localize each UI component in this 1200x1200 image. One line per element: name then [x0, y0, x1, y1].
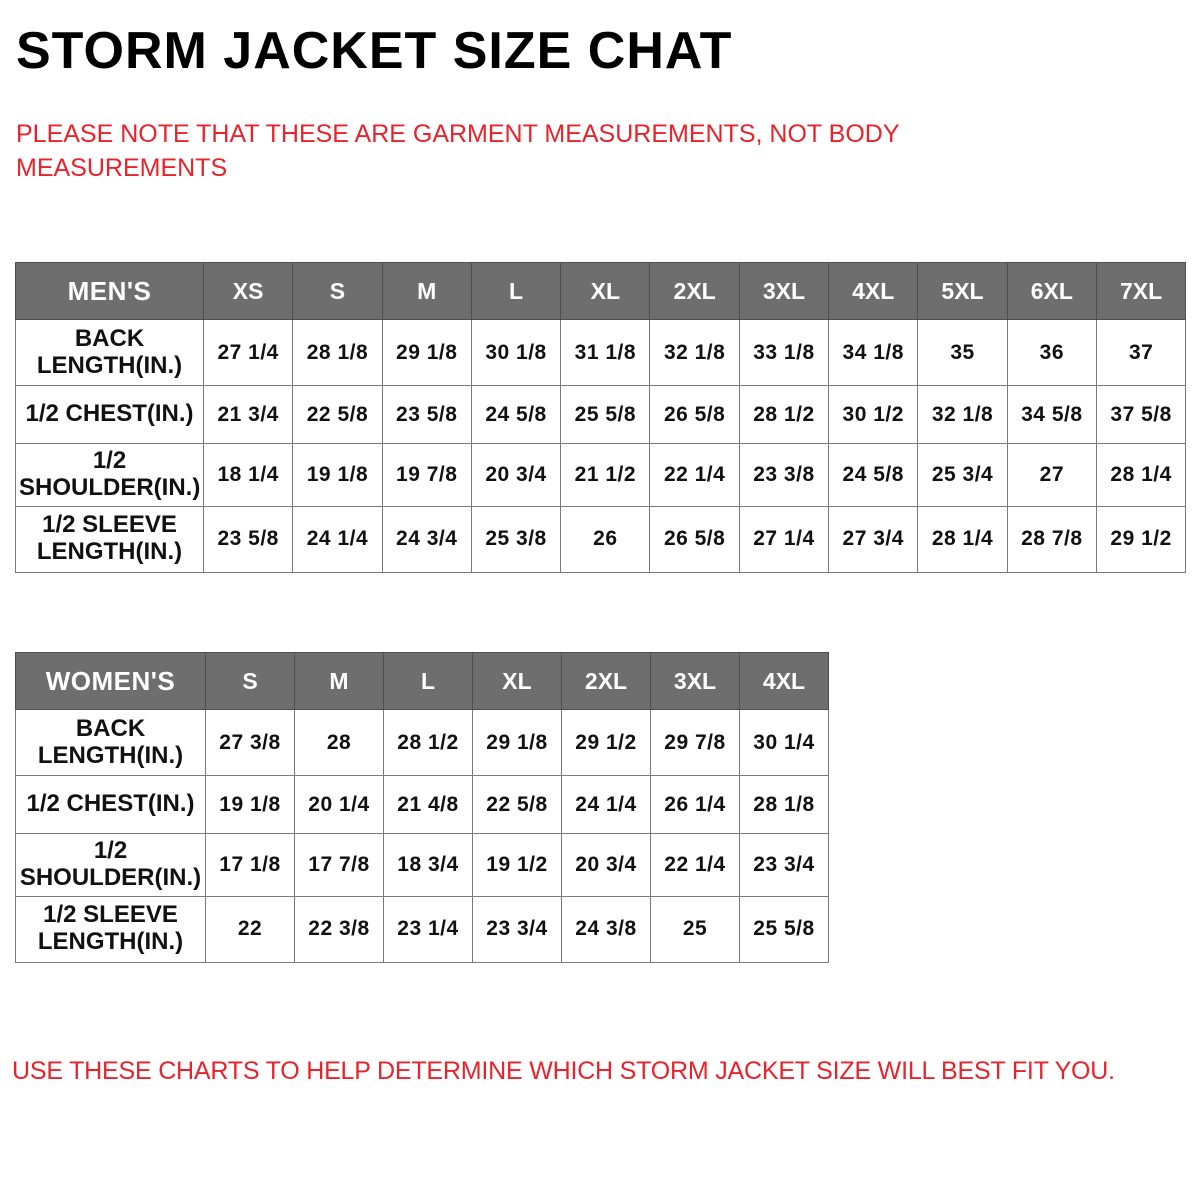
garment-measurement-note: PLEASE NOTE THAT THESE ARE GARMENT MEASU… [16, 118, 1016, 186]
measurement-cell: 22 3/8 [295, 896, 384, 962]
measurement-cell: 22 1/4 [651, 834, 740, 897]
mens-size-column-header: XL [561, 263, 650, 320]
measurement-cell: 18 1/4 [204, 444, 293, 507]
measurement-cell: 32 1/8 [918, 386, 1007, 444]
measurement-cell: 28 [295, 710, 384, 776]
measurement-cell: 17 7/8 [295, 834, 384, 897]
mens-size-column-header: L [471, 263, 560, 320]
measurement-cell: 32 1/8 [650, 320, 739, 386]
measurement-cell: 28 1/4 [918, 506, 1007, 572]
mens-table-body: BACKLENGTH(IN.)27 1/428 1/829 1/830 1/83… [16, 320, 1186, 573]
measurement-cell: 30 1/8 [471, 320, 560, 386]
measurement-cell: 22 5/8 [293, 386, 382, 444]
mens-size-column-header: 2XL [650, 263, 739, 320]
measurement-cell: 24 1/4 [562, 776, 651, 834]
measurement-row-label: 1/2 SLEEVELENGTH(IN.) [16, 506, 204, 572]
measurement-cell: 33 1/8 [739, 320, 828, 386]
measurement-cell: 27 1/4 [204, 320, 293, 386]
measurement-cell: 27 [1007, 444, 1096, 507]
mens-size-column-header: 6XL [1007, 263, 1096, 320]
measurement-cell: 22 [206, 896, 295, 962]
measurement-cell: 21 1/2 [561, 444, 650, 507]
womens-header-row: WOMEN'SSMLXL2XL3XL4XL [16, 653, 829, 710]
measurement-row-label: 1/2 SHOULDER(IN.) [16, 444, 204, 507]
measurement-cell: 22 5/8 [473, 776, 562, 834]
mens-header-row: MEN'SXSSMLXL2XL3XL4XL5XL6XL7XL [16, 263, 1186, 320]
measurement-cell: 29 1/2 [1096, 506, 1185, 572]
measurement-cell: 20 3/4 [562, 834, 651, 897]
womens-size-column-header: M [295, 653, 384, 710]
measurement-cell: 19 1/8 [293, 444, 382, 507]
measurement-cell: 18 3/4 [384, 834, 473, 897]
measurement-cell: 25 3/8 [471, 506, 560, 572]
womens-size-column-header: 2XL [562, 653, 651, 710]
measurement-cell: 23 3/8 [739, 444, 828, 507]
measurement-cell: 28 1/2 [739, 386, 828, 444]
table-row: 1/2 CHEST(IN.)21 3/422 5/823 5/824 5/825… [16, 386, 1186, 444]
measurement-cell: 37 [1096, 320, 1185, 386]
measurement-cell: 23 1/4 [384, 896, 473, 962]
mens-size-column-header: 4XL [829, 263, 918, 320]
measurement-cell: 34 1/8 [829, 320, 918, 386]
measurement-row-label: BACKLENGTH(IN.) [16, 320, 204, 386]
page-title: STORM JACKET SIZE CHAT [16, 24, 732, 79]
measurement-cell: 29 1/8 [382, 320, 471, 386]
measurement-cell: 28 1/8 [740, 776, 829, 834]
measurement-row-label: 1/2 CHEST(IN.) [16, 386, 204, 444]
mens-size-column-header: 5XL [918, 263, 1007, 320]
measurement-cell: 30 1/4 [740, 710, 829, 776]
measurement-cell: 30 1/2 [829, 386, 918, 444]
mens-size-column-header: M [382, 263, 471, 320]
womens-table-body: BACKLENGTH(IN.)27 3/82828 1/229 1/829 1/… [16, 710, 829, 963]
measurement-cell: 26 1/4 [651, 776, 740, 834]
measurement-cell: 25 [651, 896, 740, 962]
measurement-cell: 37 5/8 [1096, 386, 1185, 444]
womens-size-column-header: XL [473, 653, 562, 710]
measurement-row-label: 1/2 SHOULDER(IN.) [16, 834, 206, 897]
measurement-cell: 25 5/8 [740, 896, 829, 962]
womens-size-column-header: S [206, 653, 295, 710]
measurement-cell: 21 4/8 [384, 776, 473, 834]
measurement-row-label: BACKLENGTH(IN.) [16, 710, 206, 776]
measurement-cell: 21 3/4 [204, 386, 293, 444]
measurement-cell: 24 5/8 [829, 444, 918, 507]
measurement-cell: 28 1/2 [384, 710, 473, 776]
table-row: 1/2 CHEST(IN.)19 1/820 1/421 4/822 5/824… [16, 776, 829, 834]
measurement-cell: 28 1/8 [293, 320, 382, 386]
mens-size-column-header: XS [204, 263, 293, 320]
measurement-row-label: 1/2 CHEST(IN.) [16, 776, 206, 834]
measurement-cell: 35 [918, 320, 1007, 386]
measurement-cell: 36 [1007, 320, 1096, 386]
measurement-cell: 29 1/8 [473, 710, 562, 776]
womens-size-table: WOMEN'SSMLXL2XL3XL4XL BACKLENGTH(IN.)27 … [15, 652, 829, 963]
measurement-cell: 23 5/8 [382, 386, 471, 444]
measurement-cell: 24 1/4 [293, 506, 382, 572]
measurement-cell: 24 3/8 [562, 896, 651, 962]
mens-table-header: MEN'SXSSMLXL2XL3XL4XL5XL6XL7XL [16, 263, 1186, 320]
measurement-cell: 23 3/4 [740, 834, 829, 897]
measurement-cell: 31 1/8 [561, 320, 650, 386]
measurement-cell: 29 7/8 [651, 710, 740, 776]
measurement-cell: 26 5/8 [650, 506, 739, 572]
measurement-cell: 19 7/8 [382, 444, 471, 507]
measurement-cell: 26 5/8 [650, 386, 739, 444]
measurement-cell: 27 1/4 [739, 506, 828, 572]
womens-corner-label: WOMEN'S [16, 653, 206, 710]
measurement-cell: 23 3/4 [473, 896, 562, 962]
measurement-cell: 27 3/8 [206, 710, 295, 776]
measurement-cell: 19 1/2 [473, 834, 562, 897]
womens-size-column-header: L [384, 653, 473, 710]
measurement-cell: 17 1/8 [206, 834, 295, 897]
measurement-row-label: 1/2 SLEEVELENGTH(IN.) [16, 896, 206, 962]
measurement-cell: 23 5/8 [204, 506, 293, 572]
measurement-cell: 20 3/4 [471, 444, 560, 507]
measurement-cell: 26 [561, 506, 650, 572]
measurement-cell: 20 1/4 [295, 776, 384, 834]
table-row: 1/2 SHOULDER(IN.)17 1/817 7/818 3/419 1/… [16, 834, 829, 897]
mens-size-column-header: S [293, 263, 382, 320]
size-chart-page: STORM JACKET SIZE CHAT PLEASE NOTE THAT … [0, 0, 1200, 1200]
womens-table-header: WOMEN'SSMLXL2XL3XL4XL [16, 653, 829, 710]
measurement-cell: 22 1/4 [650, 444, 739, 507]
measurement-cell: 25 5/8 [561, 386, 650, 444]
table-row: 1/2 SHOULDER(IN.)18 1/419 1/819 7/820 3/… [16, 444, 1186, 507]
measurement-cell: 28 7/8 [1007, 506, 1096, 572]
table-row: BACKLENGTH(IN.)27 3/82828 1/229 1/829 1/… [16, 710, 829, 776]
choose-size-note: USE THESE CHARTS TO HELP DETERMINE WHICH… [12, 1057, 1162, 1086]
mens-size-column-header: 7XL [1096, 263, 1185, 320]
measurement-cell: 34 5/8 [1007, 386, 1096, 444]
table-row: 1/2 SLEEVELENGTH(IN.)23 5/824 1/424 3/42… [16, 506, 1186, 572]
table-row: BACKLENGTH(IN.)27 1/428 1/829 1/830 1/83… [16, 320, 1186, 386]
measurement-cell: 24 5/8 [471, 386, 560, 444]
mens-size-column-header: 3XL [739, 263, 828, 320]
mens-size-table: MEN'SXSSMLXL2XL3XL4XL5XL6XL7XL BACKLENGT… [15, 262, 1186, 573]
womens-size-column-header: 4XL [740, 653, 829, 710]
table-row: 1/2 SLEEVELENGTH(IN.)2222 3/823 1/423 3/… [16, 896, 829, 962]
womens-size-column-header: 3XL [651, 653, 740, 710]
measurement-cell: 28 1/4 [1096, 444, 1185, 507]
measurement-cell: 29 1/2 [562, 710, 651, 776]
measurement-cell: 27 3/4 [829, 506, 918, 572]
measurement-cell: 25 3/4 [918, 444, 1007, 507]
measurement-cell: 19 1/8 [206, 776, 295, 834]
mens-corner-label: MEN'S [16, 263, 204, 320]
measurement-cell: 24 3/4 [382, 506, 471, 572]
